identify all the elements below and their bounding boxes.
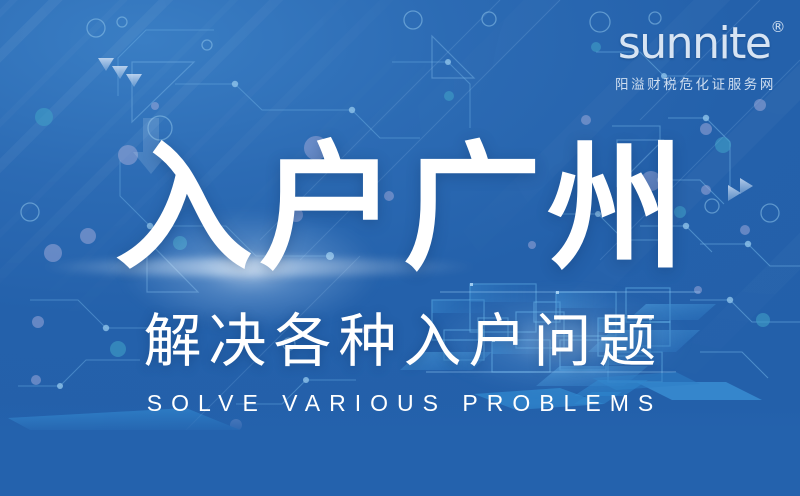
headline-text: 入户广州 [109, 140, 691, 278]
tagline: SOLVE VARIOUS PROBLEMS [0, 392, 800, 416]
promo-banner: sunnite ® 阳溢财税危化证服务网 入户广州 解决各种入户问题 SOLVE… [0, 0, 800, 496]
headline: 入户广州 [0, 140, 800, 278]
brand-logo[interactable]: sunnite ® 阳溢财税危化证服务网 [612, 22, 776, 93]
logo-subtitle: 阳溢财税危化证服务网 [612, 73, 776, 93]
background-bottom-block [0, 430, 800, 496]
logo-wordmark-wrap: sunnite ® [618, 22, 771, 66]
registered-trademark-icon: ® [771, 20, 786, 35]
logo-wordmark: sunnite [618, 22, 771, 66]
subheadline: 解决各种入户问题 [0, 312, 800, 370]
subheadline-text: 解决各种入户问题 [136, 312, 663, 370]
tagline-text: SOLVE VARIOUS PROBLEMS [138, 392, 662, 415]
